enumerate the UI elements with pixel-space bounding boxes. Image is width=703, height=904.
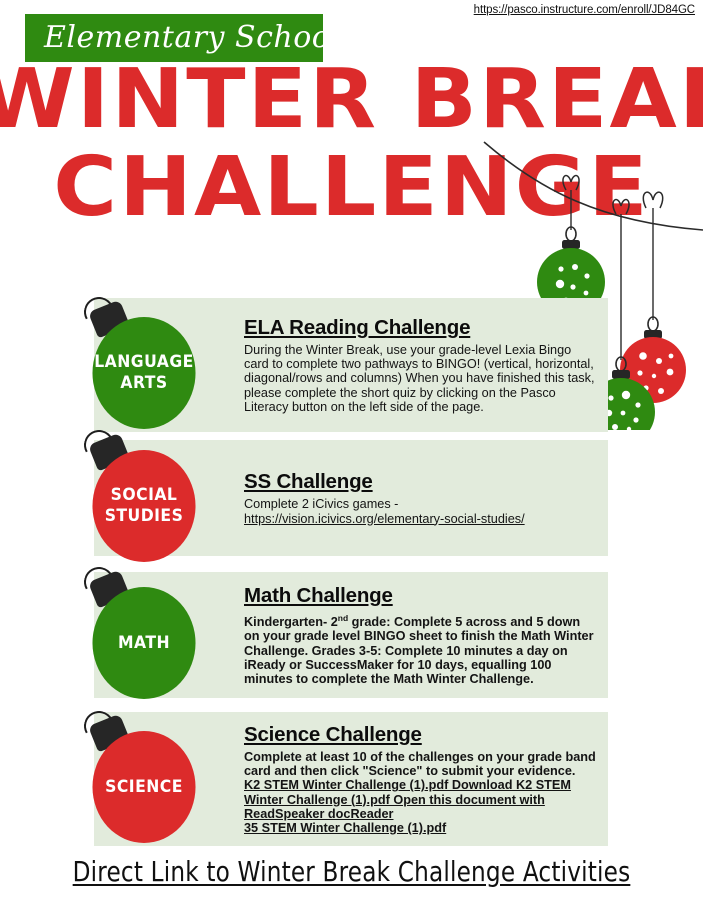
section-heading-ela[interactable]: ELA Reading Challenge <box>244 316 598 340</box>
badge-social-studies: SOCIAL STUDIES <box>76 432 194 564</box>
badge-language-arts: LANGUAGE ARTS <box>76 299 194 431</box>
title-line-2: CHALLENGE <box>0 144 703 232</box>
35-stem-pdf-link[interactable]: 35 STEM Winter Challenge (1).pdf <box>244 821 598 835</box>
icivics-link[interactable]: https://vision.icivics.org/elementary-so… <box>244 512 525 526</box>
badge-label-line2: STUDIES <box>105 506 184 526</box>
badge-circle-social-studies: SOCIAL STUDIES <box>92 450 195 562</box>
section-body-math-pre: Kindergarten- 2 <box>244 615 338 629</box>
section-body-ss: Complete 2 iCivics games - <box>244 497 398 511</box>
badge-label-line1: MATH <box>118 633 170 654</box>
section-heading-ss[interactable]: SS Challenge <box>244 470 598 494</box>
badge-label-line1: LANGUAGE <box>94 352 194 372</box>
badge-circle-math: MATH <box>92 587 195 699</box>
section-body-ela: During the Winter Break, use your grade-… <box>244 343 598 414</box>
badge-math: MATH <box>76 569 194 701</box>
section-heading-math[interactable]: Math Challenge <box>244 584 598 608</box>
badge-circle-science: SCIENCE <box>92 731 195 843</box>
footer-direct-link[interactable]: Direct Link to Winter Break Challenge Ac… <box>28 855 675 889</box>
section-row-science: SCIENCE Science Challenge Complete at le… <box>94 712 608 846</box>
badge-circle-language-arts: LANGUAGE ARTS <box>92 317 195 429</box>
ornament-red-right <box>620 317 686 403</box>
section-row-math: MATH Math Challenge Kindergarten- 2nd gr… <box>94 572 608 698</box>
badge-label-line1: SOCIAL <box>111 485 178 505</box>
section-content-social-studies: SS Challenge Complete 2 iCivics games - … <box>244 440 598 556</box>
section-body-science: Complete at least 10 of the challenges o… <box>244 750 596 778</box>
title-line-1: WINTER BREAK <box>0 52 703 147</box>
badge-label-line2: ARTS <box>120 373 167 393</box>
section-heading-science[interactable]: Science Challenge <box>244 723 598 747</box>
k2-stem-pdf-link[interactable]: K2 STEM Winter Challenge (1).pdf Downloa… <box>244 778 598 821</box>
section-content-language-arts: ELA Reading Challenge During the Winter … <box>244 298 598 432</box>
page-title: WINTER BREAK CHALLENGE <box>0 56 703 232</box>
section-content-science: Science Challenge Complete at least 10 o… <box>244 712 598 846</box>
badge-label-line1: SCIENCE <box>105 777 183 798</box>
section-body-math-sup: nd <box>338 613 348 623</box>
section-content-math: Math Challenge Kindergarten- 2nd grade: … <box>244 572 598 698</box>
section-row-language-arts: LANGUAGE ARTS ELA Reading Challenge Duri… <box>94 298 608 432</box>
badge-science: SCIENCE <box>76 713 194 845</box>
section-row-social-studies: SOCIAL STUDIES SS Challenge Complete 2 i… <box>94 440 608 556</box>
